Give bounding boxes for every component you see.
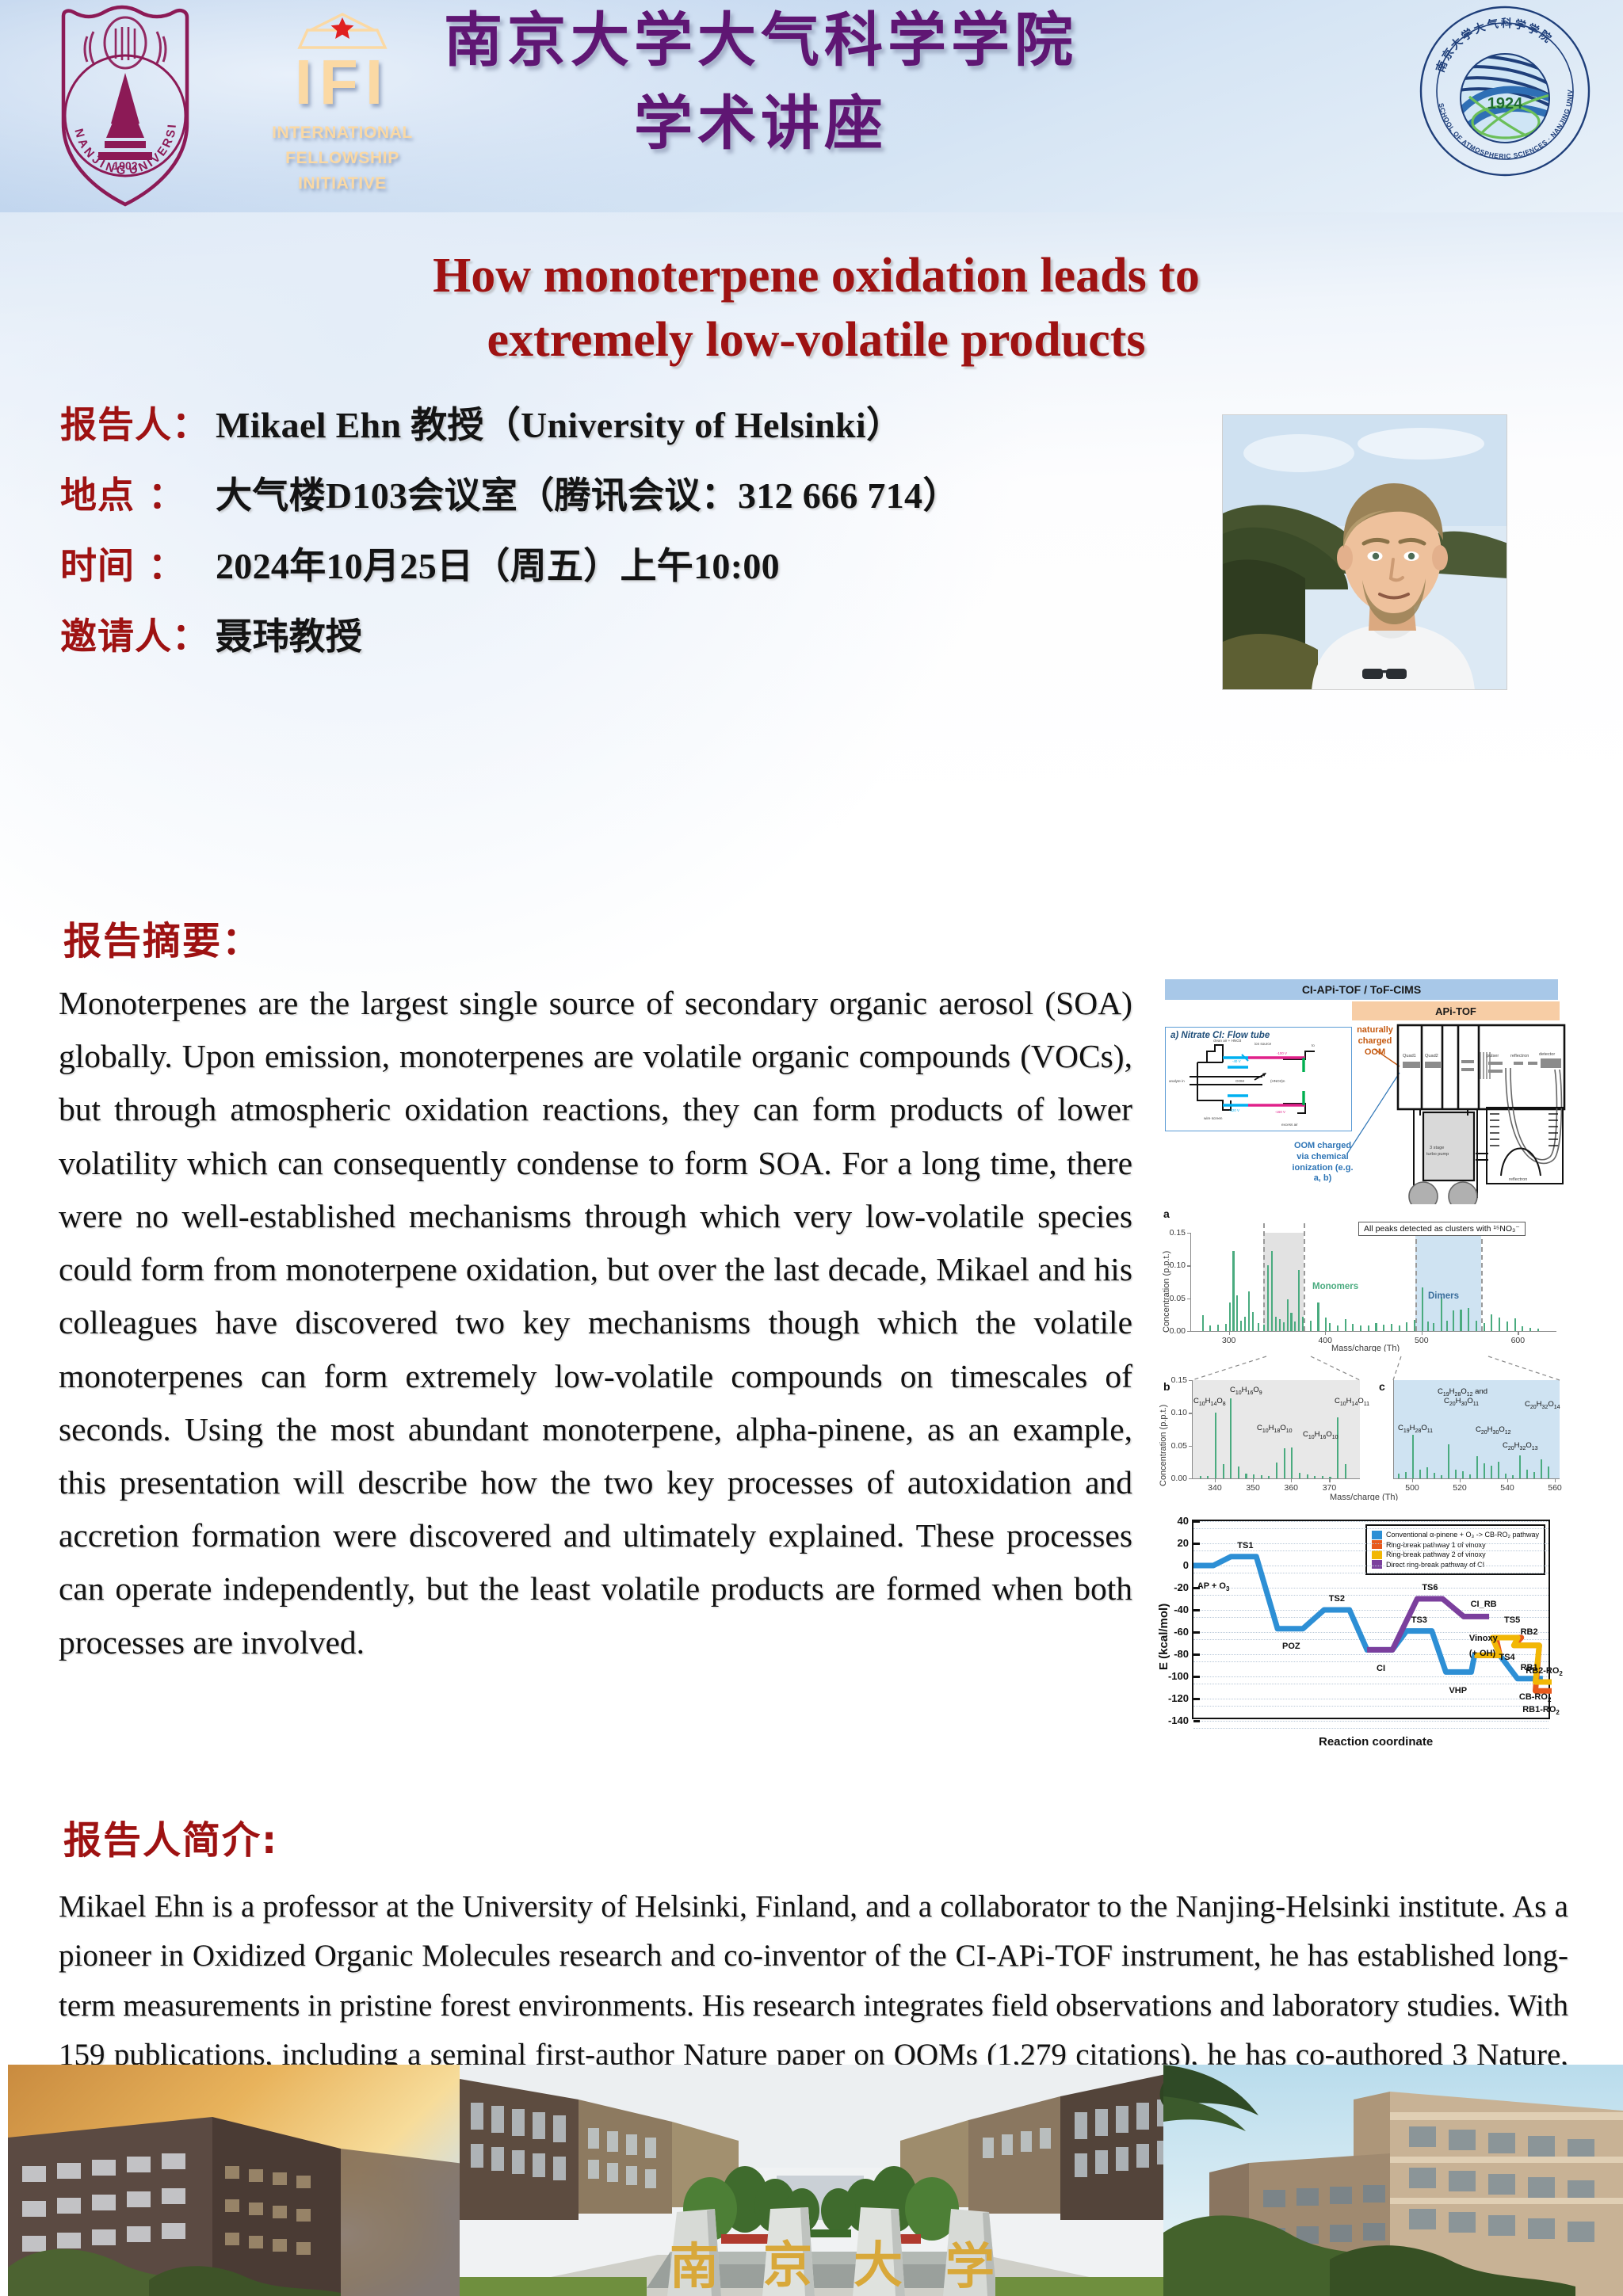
spectrum-bar (1317, 1302, 1319, 1331)
spectrum-x-tick-label: 340 (1205, 1483, 1224, 1493)
apitof-label-detector: detector (1539, 1052, 1555, 1057)
abstract-section-heading: 报告摘要： (63, 910, 262, 965)
monument-char-xue: 学 (945, 2237, 995, 2295)
spectrum-bar (1512, 1475, 1514, 1478)
spectrum-c-formula-label: C19H28O11 (1398, 1425, 1433, 1435)
spectrum-bar (1244, 1317, 1246, 1331)
spectrum-bar (1476, 1456, 1478, 1478)
energy-xlabel: Reaction coordinate (1319, 1735, 1433, 1749)
spectrum-bar (1215, 1413, 1216, 1478)
seal-year: 1902 (113, 159, 137, 172)
spectrum-bar (1455, 1470, 1457, 1478)
spectrum-bar (1268, 1476, 1270, 1478)
spectrum-y-tick (1187, 1265, 1191, 1266)
spectrum-bar (1276, 1463, 1277, 1478)
spectrum-bar (1263, 1325, 1265, 1331)
region-label-monomers: Monomers (1312, 1282, 1358, 1291)
spectrum-y-tick (1187, 1233, 1191, 1234)
spectrum-bar (1217, 1325, 1219, 1331)
energy-state-label: POZ (1282, 1642, 1300, 1651)
spectrum-x-tick (1329, 1478, 1330, 1482)
schematic-label-excess-air: excess air (1281, 1123, 1298, 1127)
spectrum-bar (1441, 1297, 1442, 1331)
spectrum-bar (1433, 1323, 1434, 1331)
figure-energy-diagram: Conventional α-pinene + O₃ -> CB-RO₂ pat… (1148, 1501, 1575, 1754)
spectrum-y-tick (1189, 1446, 1193, 1447)
spectrum-bar (1448, 1444, 1449, 1478)
schematic-label-to-top: to (1312, 1043, 1315, 1047)
spectrum-bar (1383, 1325, 1384, 1331)
spectrum-c-formula-label: C20H30O11 (1444, 1398, 1479, 1408)
spectrum-x-tick (1518, 1331, 1518, 1335)
spectrum-bar (1406, 1322, 1407, 1331)
apitof-label-turbo-pump: 3 stage (1430, 1146, 1444, 1150)
photo-campus-building-sunrise (8, 2065, 483, 2296)
header-title-line1: 南京大学大气科学学院 (341, 5, 1181, 76)
spectrum-y-axis (1393, 1380, 1394, 1478)
ifi-subtitle-line3: INITIATIVE (258, 174, 426, 193)
label-host: 邀请人： (60, 608, 216, 660)
spectrum-x-tick (1215, 1478, 1216, 1482)
energy-y-tick-label: 20 (1157, 1537, 1189, 1549)
value-location: 大气楼D103会议室（腾讯会议：312 666 714） (216, 467, 960, 519)
spectrum-bar (1414, 1320, 1415, 1331)
energy-state-label: CB-RO2 (1519, 1692, 1552, 1703)
spectrum-bar (1412, 1435, 1414, 1478)
apitof-label-quad2: Quad2 (1425, 1054, 1438, 1058)
spectrum-bar (1329, 1323, 1331, 1331)
energy-y-tick-label: 40 (1157, 1515, 1189, 1527)
energy-state-label: (+ OH) (1469, 1649, 1495, 1658)
spectrum-y-tick-label: 0.10 (1163, 1408, 1187, 1417)
value-host: 聂玮教授 (216, 608, 362, 660)
spectrum-bar (1426, 1467, 1428, 1478)
apitof-label-reflectron-bottom: reflectron (1509, 1177, 1527, 1182)
detail-row-location: 地点 ： 大气楼D103会议室（腾讯会议：312 666 714） (60, 467, 1201, 519)
spectrum-bar (1302, 1317, 1304, 1331)
energy-pathway-curves (1193, 1521, 1552, 1721)
value-time: 2024年10月25日（周五）上午10:00 (216, 537, 780, 589)
energy-state-label: TS4 (1499, 1653, 1515, 1662)
energy-state-label: TS3 (1411, 1615, 1427, 1625)
spectrum-bar (1533, 1472, 1535, 1478)
detail-row-time: 时间 ： 2024年10月25日（周五）上午10:00 (60, 537, 1201, 589)
energy-state-label: Vinoxy (1469, 1634, 1498, 1643)
spectrum-bar (1405, 1472, 1407, 1478)
spectrum-bar (1368, 1325, 1369, 1331)
spectrum-x-tick-label: 560 (1545, 1483, 1564, 1493)
spectrum-bar (1360, 1325, 1361, 1331)
svg-text:-160 V: -160 V (1275, 1110, 1285, 1114)
schematic-label-ion-source: ion source (1254, 1042, 1272, 1046)
value-speaker: Mikael Ehn 教授（University of Helsinki） (216, 396, 903, 448)
label-location: 地点 ： (60, 467, 216, 519)
energy-state-label: TS6 (1422, 1583, 1438, 1592)
spectrum-bar (1498, 1462, 1499, 1478)
spectrum-bar (1419, 1470, 1421, 1478)
energy-state-label: RB2 (1521, 1627, 1538, 1637)
label-time: 时间 ： (60, 537, 216, 589)
spectrum-x-tick (1253, 1478, 1254, 1482)
spectrum-bar (1261, 1475, 1262, 1478)
energy-gridline (1193, 1721, 1549, 1722)
speaker-portrait-photo (1222, 414, 1507, 690)
spectrum-y-axis (1190, 1233, 1191, 1331)
spectrum-bar (1294, 1322, 1296, 1331)
page-title: How monoterpene oxidation leads to extre… (238, 244, 1395, 372)
energy-gridline-minor (1193, 1728, 1549, 1729)
spectrum-bar (1248, 1291, 1250, 1331)
apitof-title-bar: APi-TOF (1352, 1001, 1560, 1020)
talk-title-line1: How monoterpene oxidation leads to (238, 244, 1395, 308)
apitof-label-quad1: Quad1 (1403, 1054, 1416, 1058)
svg-text:-100 V: -100 V (1277, 1051, 1287, 1055)
talk-title-line2: extremely low-volatile products (238, 308, 1395, 372)
spectrum-y-tick (1189, 1380, 1193, 1381)
energy-state-label: CI_RB (1471, 1600, 1497, 1609)
spectrum-x-tick-label: 370 (1319, 1483, 1338, 1493)
spectrum-bar (1232, 1251, 1234, 1331)
spectrum-y-tick-label: 0.05 (1163, 1441, 1187, 1451)
spectrum-x-axis (1192, 1478, 1360, 1479)
energy-state-label: TS1 (1237, 1541, 1253, 1550)
spectrum-bar (1446, 1321, 1448, 1331)
spectrum-bar (1298, 1270, 1300, 1331)
spectrum-y-tick-label: 0.15 (1162, 1228, 1186, 1238)
schematic-label-oom: OOM (1235, 1079, 1244, 1083)
energy-ylabel: E (kcal/mol) (1157, 1604, 1170, 1670)
spectrum-region-boundary (1263, 1223, 1265, 1331)
energy-y-tick-label: -120 (1157, 1692, 1189, 1704)
svg-text:UNIVERSITY: UNIVERSITY (46, 5, 179, 177)
detail-row-speaker: 报告人： Mikael Ehn 教授（University of Helsink… (60, 396, 1201, 448)
spectrum-bar (1236, 1295, 1238, 1331)
schematic-label-clean-air: clean air + HNO3 (1213, 1039, 1242, 1043)
spectrum-bar (1225, 1324, 1227, 1331)
photo-campus-gate-monument: 南 京 大 学 (460, 2065, 1181, 2296)
spectrum-a-ylabel: Concentration (p.p.t.) (1162, 1251, 1171, 1333)
photo-campus-building-daylight (1163, 2065, 1623, 2296)
label-speaker: 报告人： (60, 396, 216, 448)
spectrum-bar (1267, 1265, 1269, 1331)
spectrum-x-tick-label: 540 (1498, 1483, 1517, 1493)
seal-text-university: UNIVERSITY (46, 5, 179, 177)
spectrum-b-formula-label: C10H18O10 (1257, 1425, 1293, 1435)
spectrum-region-boundary (1304, 1223, 1305, 1331)
nitrate-ci-flowtube-box: a) Nitrate CI: Flow tube (1165, 1027, 1352, 1131)
spectrum-bar (1252, 1312, 1254, 1331)
spectrum-b-formula-label: C10H14O8 (1193, 1398, 1226, 1408)
spectrum-bar (1526, 1470, 1528, 1478)
spectrum-x-tick-label: 500 (1412, 1336, 1431, 1345)
spectrum-bar (1434, 1473, 1435, 1478)
energy-state-label: CI (1377, 1664, 1385, 1673)
poster-body: How monoterpene oxidation leads to extre… (0, 212, 1623, 2065)
spectrum-bar (1314, 1476, 1316, 1478)
spectrum-y-tick (1187, 1331, 1191, 1332)
spectrum-bar (1507, 1322, 1508, 1331)
poster-header: NANJING UNIVERSITY 1902 IFI INTERNATIONA… (0, 0, 1623, 212)
spectrum-region-boundary (1415, 1223, 1417, 1331)
svg-text:-40 V: -40 V (1232, 1059, 1241, 1063)
monument-char-da: 大 (854, 2236, 903, 2294)
detail-row-host: 邀请人： 聂玮教授 (60, 608, 1201, 660)
spectrum-bar (1548, 1466, 1549, 1478)
energy-state-label: TS2 (1329, 1594, 1345, 1604)
spectrum-y-tick-label: 0.00 (1163, 1474, 1187, 1483)
spectrum-bar (1337, 1417, 1338, 1478)
spectrum-bar (1245, 1474, 1247, 1478)
spectrum-bar (1345, 1464, 1346, 1478)
spectrum-bar (1258, 1323, 1259, 1331)
apitof-label-pulser: pulser (1487, 1054, 1499, 1058)
spectrum-bar (1453, 1310, 1454, 1331)
spectrum-bar (1283, 1322, 1285, 1331)
spectrum-bar (1223, 1464, 1224, 1478)
apitof-label-reflectron: reflectron (1510, 1054, 1529, 1058)
spectrum-bar (1240, 1321, 1242, 1331)
spectrum-x-tick-label: 360 (1281, 1483, 1300, 1493)
spectrum-y-axis (1192, 1380, 1193, 1478)
spectrum-bar (1287, 1299, 1289, 1332)
energy-y-tick-label: -100 (1157, 1670, 1189, 1682)
spectrum-x-tick (1422, 1331, 1423, 1335)
figure-stack: CI-APi-TOF / ToF-CIMS APi-TOF a) Nitrate… (1148, 973, 1575, 1754)
spectrum-x-tick (1555, 1478, 1556, 1482)
spectrum-bar (1529, 1328, 1531, 1331)
abstract-body-text: Monoterpenes are the largest single sour… (59, 977, 1132, 1669)
spectrum-bar (1519, 1455, 1521, 1478)
spectrum-y-tick (1189, 1413, 1193, 1413)
spectrum-bar (1398, 1474, 1400, 1478)
spectrum-bar (1476, 1321, 1477, 1331)
spectrum-a-callout: All peaks detected as clusters with ¹⁵NO… (1358, 1222, 1526, 1236)
spectrum-bar (1291, 1447, 1293, 1478)
event-details-block: 报告人： Mikael Ehn 教授（University of Helsink… (60, 396, 1201, 678)
energy-plot-frame: Conventional α-pinene + O₃ -> CB-RO₂ pat… (1192, 1520, 1550, 1719)
spectrum-bar (1352, 1324, 1354, 1331)
spectrum-bar (1522, 1326, 1523, 1331)
spectrum-bar (1514, 1318, 1516, 1331)
spectrum-bar (1290, 1313, 1292, 1331)
spectrum-x-tick-label: 350 (1243, 1483, 1262, 1493)
energy-state-label: RB2-RO2 (1526, 1666, 1563, 1677)
energy-state-label: AP + O3 (1197, 1581, 1230, 1592)
spectrum-b-formula-label: C10H14O11 (1335, 1398, 1369, 1408)
energy-y-tick-label: -140 (1157, 1714, 1189, 1726)
spectrum-bar (1375, 1323, 1377, 1331)
spectrum-x-axis (1190, 1331, 1556, 1332)
spectrum-bar (1484, 1323, 1485, 1331)
spectrum-x-tick (1507, 1478, 1508, 1482)
spectrum-x-tick-label: 500 (1403, 1483, 1422, 1493)
spectrum-y-tick (1187, 1299, 1191, 1299)
energy-state-label: RB1-RO2 (1522, 1705, 1560, 1716)
figure-mass-spectrum-panel-a: a 0.000.050.100.15300400500600 All peaks… (1148, 1204, 1575, 1352)
spectrum-bar (1322, 1476, 1323, 1478)
school-of-atmospheric-sciences-logo: 1924 南京大学大气科学学院 SCHOOL OF ATMOSPHERIC SC… (1417, 3, 1593, 179)
schematic-label-analyte-in: analyte in (1169, 1079, 1185, 1083)
spectrum-bar (1337, 1325, 1338, 1331)
energy-y-tick-label: -20 (1157, 1581, 1189, 1593)
spectrum-bar (1441, 1475, 1442, 1478)
spectrum-bar (1253, 1474, 1254, 1478)
spectrum-bar (1279, 1319, 1281, 1331)
spectrum-shaded-region-dimers (1415, 1233, 1481, 1331)
spectrum-bar (1345, 1319, 1346, 1331)
spectrum-bar (1271, 1251, 1273, 1331)
energy-state-label: VHP (1449, 1686, 1467, 1695)
spectrum-bar (1469, 1474, 1471, 1478)
figure-zoom-spectra-panels-bc: b c Concentration (p.p.t.) 0.000.050.100… (1148, 1352, 1575, 1501)
spectrum-x-tick (1412, 1478, 1413, 1482)
nanjing-university-seal-logo: NANJING UNIVERSITY 1902 (46, 5, 204, 209)
spectrum-x-tick (1325, 1331, 1326, 1335)
spectrum-bar (1209, 1325, 1211, 1331)
spectrum-bar (1491, 1314, 1492, 1331)
spectrum-bar (1238, 1466, 1239, 1478)
spectrum-bar (1491, 1466, 1492, 1478)
spectrum-x-tick (1291, 1478, 1292, 1482)
sas-logo-year: 1924 (1487, 95, 1523, 113)
apitof-label-turbo-pump-2: turbo pump (1426, 1152, 1449, 1157)
instrument-title-bar: CI-APi-TOF / ToF-CIMS (1165, 979, 1558, 1000)
spectrum-bar (1499, 1318, 1500, 1331)
spectrum-x-tick-label: 300 (1220, 1336, 1239, 1345)
campus-photo-strip: 南 京 大 学 (0, 2065, 1623, 2296)
spectrum-x-tick (1229, 1331, 1230, 1335)
spectrum-x-tick-label: 600 (1508, 1336, 1527, 1345)
figure-instrument-schematic: CI-APi-TOF / ToF-CIMS APi-TOF a) Nitrate… (1148, 973, 1575, 1204)
spectrum-x-tick-label: 520 (1450, 1483, 1469, 1493)
spectrum-bar (1391, 1324, 1392, 1331)
energy-series-line (1193, 1557, 1543, 1679)
spectrum-y-tick (1189, 1478, 1193, 1479)
spectrum-bar (1200, 1476, 1201, 1478)
schematic-label-wire-screen: wire screen (1204, 1116, 1223, 1120)
panel-tag-c: c (1379, 1380, 1385, 1393)
spectrum-a-plot-area: 0.000.050.100.15300400500600 (1190, 1233, 1556, 1331)
spectrum-bar (1299, 1473, 1300, 1478)
spectrum-bar (1230, 1398, 1232, 1478)
spectrum-bar (1541, 1459, 1542, 1478)
spectrum-bar (1325, 1318, 1327, 1331)
spectrum-bar (1399, 1325, 1400, 1331)
monument-char-nan: 南 (670, 2237, 719, 2295)
schematic-label-hno3n: (HNO3)n (1270, 1079, 1285, 1083)
spectrum-bar (1427, 1322, 1429, 1331)
note-naturally-charged-oom: naturally charged OOM (1350, 1025, 1400, 1058)
monument-char-jing: 京 (763, 2236, 812, 2294)
spectrum-x-tick (1460, 1478, 1461, 1482)
spectrum-c-formula-label: C20H30O12 (1476, 1426, 1511, 1436)
spectrum-b-formula-label: C10H16O10 (1303, 1431, 1338, 1441)
spectrum-bar (1207, 1476, 1209, 1478)
spectrum-bar (1422, 1287, 1423, 1331)
svg-text:-220 V: -220 V (1229, 1108, 1239, 1112)
spectrum-bar (1275, 1317, 1277, 1331)
note-oom-charged-via-ci: OOM charged via chemical ionization (e.g… (1289, 1141, 1357, 1184)
spectrum-bar (1310, 1321, 1312, 1331)
header-title-line2: 学术讲座 (341, 87, 1181, 161)
spectrum-bar (1462, 1471, 1464, 1478)
spectrum-bar (1229, 1302, 1231, 1331)
spectrum-bar (1307, 1474, 1308, 1478)
spectrum-bar (1460, 1310, 1461, 1331)
spectrum-bar (1284, 1448, 1285, 1478)
spectrum-bar (1537, 1329, 1539, 1331)
spectrum-bar (1468, 1308, 1469, 1331)
energy-state-label: TS5 (1504, 1615, 1520, 1625)
spectrum-bar (1329, 1477, 1331, 1478)
bio-section-heading: 报告人简介: (63, 1809, 278, 1864)
spectrum-c-formula-label: C20H32O14 (1525, 1401, 1560, 1411)
spectrum-bar (1484, 1463, 1485, 1478)
header-institute-title: 南京大学大气科学学院 学术讲座 (341, 5, 1181, 161)
spectrum-x-axis (1393, 1478, 1560, 1479)
spectrum-bar (1505, 1474, 1507, 1478)
spectrum-c-formula-label: C20H32O13 (1503, 1442, 1538, 1452)
panel-tag-a: a (1163, 1207, 1170, 1220)
spectrum-bar (1202, 1315, 1204, 1331)
region-label-dimers: Dimers (1428, 1291, 1459, 1301)
spectrum-region-boundary (1481, 1223, 1483, 1331)
spectrum-b-formula-label: C10H16O9 (1230, 1386, 1262, 1397)
energy-y-tick-label: 0 (1157, 1559, 1189, 1571)
spectrum-y-tick-label: 0.15 (1163, 1375, 1187, 1385)
